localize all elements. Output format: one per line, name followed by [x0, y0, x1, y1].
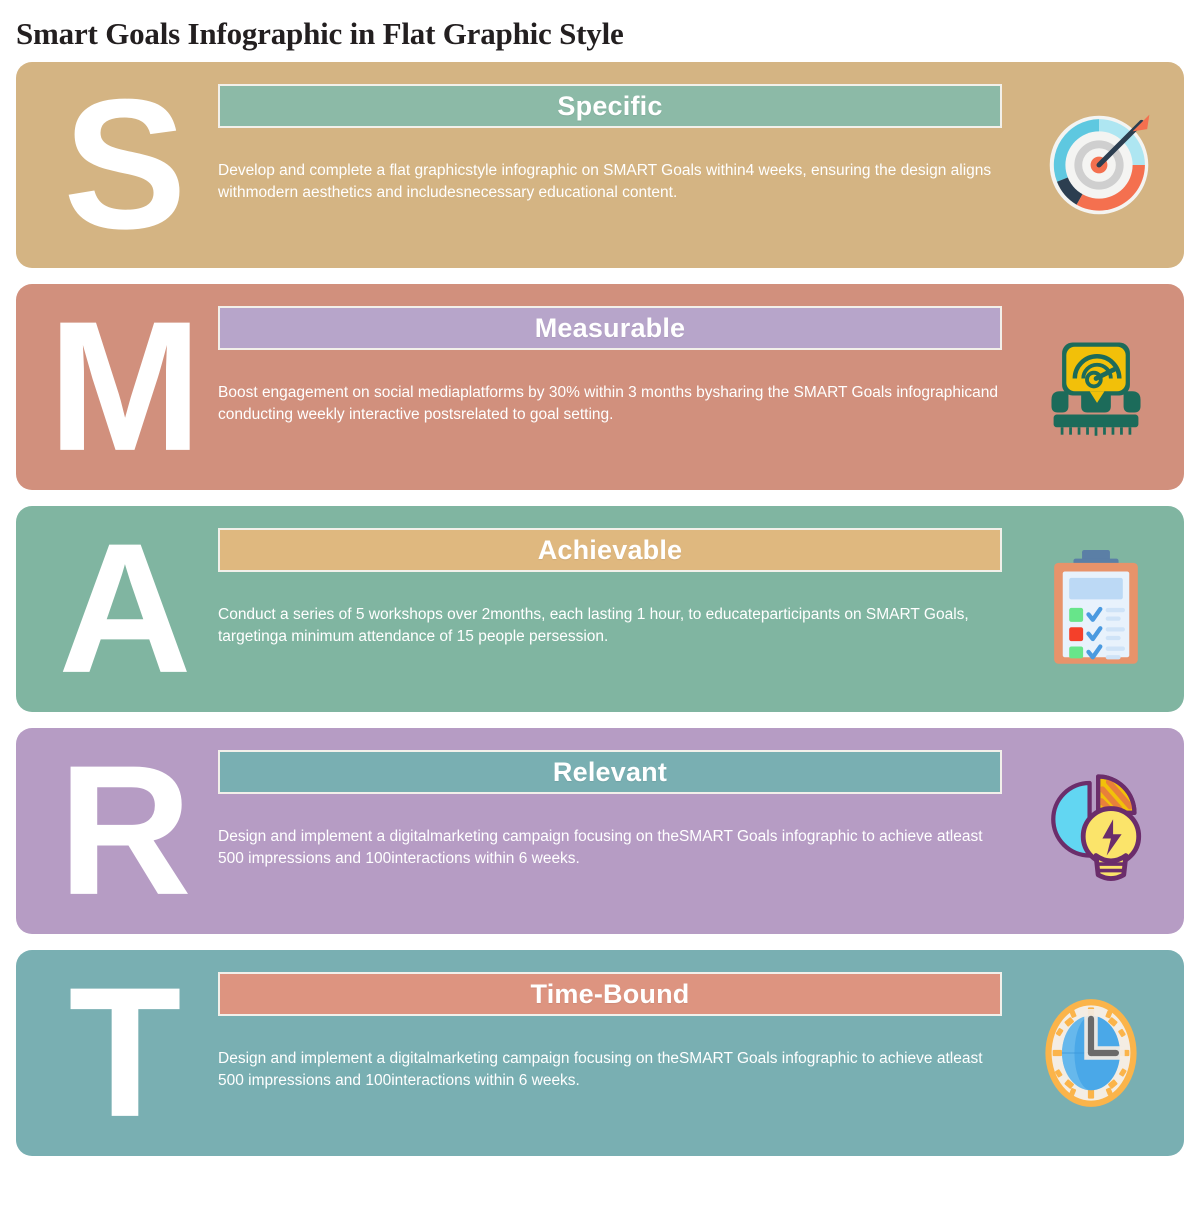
- card-heading-band: Specific: [218, 84, 1002, 128]
- page-title: Smart Goals Infographic in Flat Graphic …: [0, 0, 1200, 51]
- card-letter-s: S: [34, 93, 216, 237]
- clipboard-checklist-icon: [1044, 550, 1148, 668]
- smart-card-relevant: R Relevant Design and implement a digita…: [16, 728, 1184, 934]
- card-heading-text: Measurable: [535, 313, 686, 344]
- card-letter-m: M: [34, 315, 216, 459]
- card-heading-text: Achievable: [538, 535, 683, 566]
- clock-globe-icon: [1032, 994, 1150, 1112]
- card-description: Conduct a series of 5 workshops over 2mo…: [218, 604, 1002, 648]
- card-description: Develop and complete a flat graphicstyle…: [218, 160, 1002, 204]
- speedometer-gauge-icon: [1040, 331, 1152, 443]
- card-letter-r: R: [34, 759, 216, 903]
- card-body: Specific Develop and complete a flat gra…: [218, 62, 1002, 268]
- card-description: Design and implement a digitalmarketing …: [218, 1048, 1002, 1092]
- card-body: Measurable Boost engagement on social me…: [218, 284, 1002, 490]
- smart-card-specific: S Specific Develop and complete a flat g…: [16, 62, 1184, 268]
- card-description: Design and implement a digitalmarketing …: [218, 826, 1002, 870]
- card-body: Time-Bound Design and implement a digita…: [218, 950, 1002, 1156]
- card-heading-band: Time-Bound: [218, 972, 1002, 1016]
- smart-goals-card-list: S Specific Develop and complete a flat g…: [0, 51, 1200, 1156]
- card-body: Relevant Design and implement a digitalm…: [218, 728, 1002, 934]
- piechart-lightbulb-icon: [1040, 769, 1152, 893]
- card-heading-band: Achievable: [218, 528, 1002, 572]
- card-heading-text: Time-Bound: [531, 979, 690, 1010]
- card-letter-a: A: [34, 537, 216, 681]
- smart-card-measurable: M Measurable Boost engagement on social …: [16, 284, 1184, 490]
- card-letter-t: T: [34, 981, 216, 1125]
- card-body: Achievable Conduct a series of 5 worksho…: [218, 506, 1002, 712]
- smart-card-time-bound: T Time-Bound Design and implement a digi…: [16, 950, 1184, 1156]
- card-heading-text: Relevant: [553, 757, 667, 788]
- card-heading-band: Measurable: [218, 306, 1002, 350]
- card-heading-text: Specific: [557, 91, 662, 122]
- smart-card-achievable: A Achievable Conduct a series of 5 works…: [16, 506, 1184, 712]
- card-description: Boost engagement on social mediaplatform…: [218, 382, 1002, 426]
- target-dartboard-icon: [1040, 106, 1158, 224]
- card-heading-band: Relevant: [218, 750, 1002, 794]
